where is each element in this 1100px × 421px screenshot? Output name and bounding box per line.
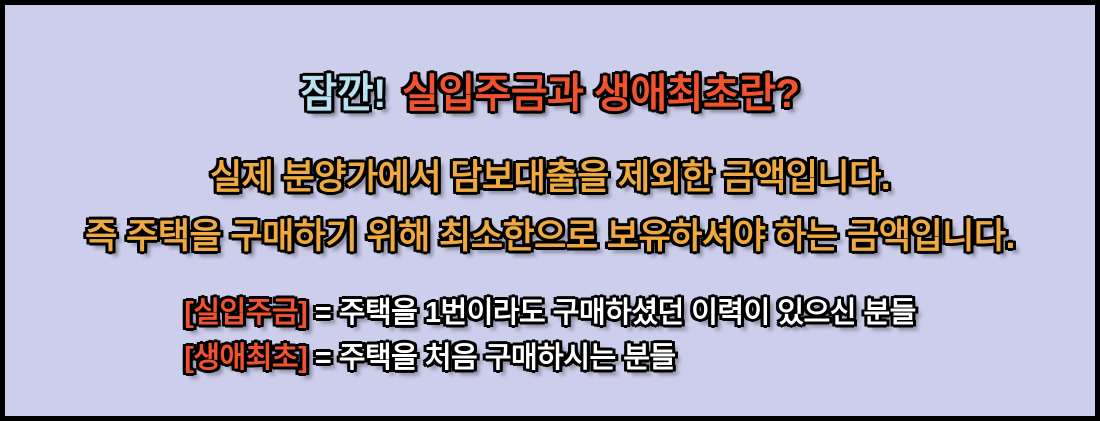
banner-title: 잠깐! 실입주금과 생애최초란? (301, 61, 800, 119)
definition-value-saengae-choecho: = 주택을 처음 구매하시는 분들 (307, 334, 675, 376)
definition-item-saengae-choecho: [생애최초] = 주택을 처음 구매하시는 분들 (184, 334, 675, 376)
description-line-2: 즉 주택을 구매하기 위해 최소한으로 보유하셔야 하는 금액입니다. (85, 208, 1015, 259)
definition-term-sil-ipjugeum: [실입주금] (184, 289, 307, 331)
title-attention-text: 잠깐! (301, 61, 386, 119)
description-line-1: 실제 분양가에서 담보대출을 제외한 금액입니다. (210, 149, 890, 200)
title-question-text: 실입주금과 생애최초란? (402, 61, 800, 119)
definition-term-saengae-choecho: [생애최초] (184, 334, 307, 376)
definition-value-sil-ipjugeum: = 주택을 1번이라도 구매하셨던 이력이 있으신 분들 (307, 289, 916, 331)
definition-list: [실입주금] = 주택을 1번이라도 구매하셨던 이력이 있으신 분들 [생애최… (184, 289, 916, 379)
info-banner: 잠깐! 실입주금과 생애최초란? 실제 분양가에서 담보대출을 제외한 금액입니… (0, 0, 1100, 421)
definition-item-sil-ipjugeum: [실입주금] = 주택을 1번이라도 구매하셨던 이력이 있으신 분들 (184, 289, 916, 331)
banner-content: 잠깐! 실입주금과 생애최초란? 실제 분양가에서 담보대출을 제외한 금액입니… (5, 5, 1095, 416)
